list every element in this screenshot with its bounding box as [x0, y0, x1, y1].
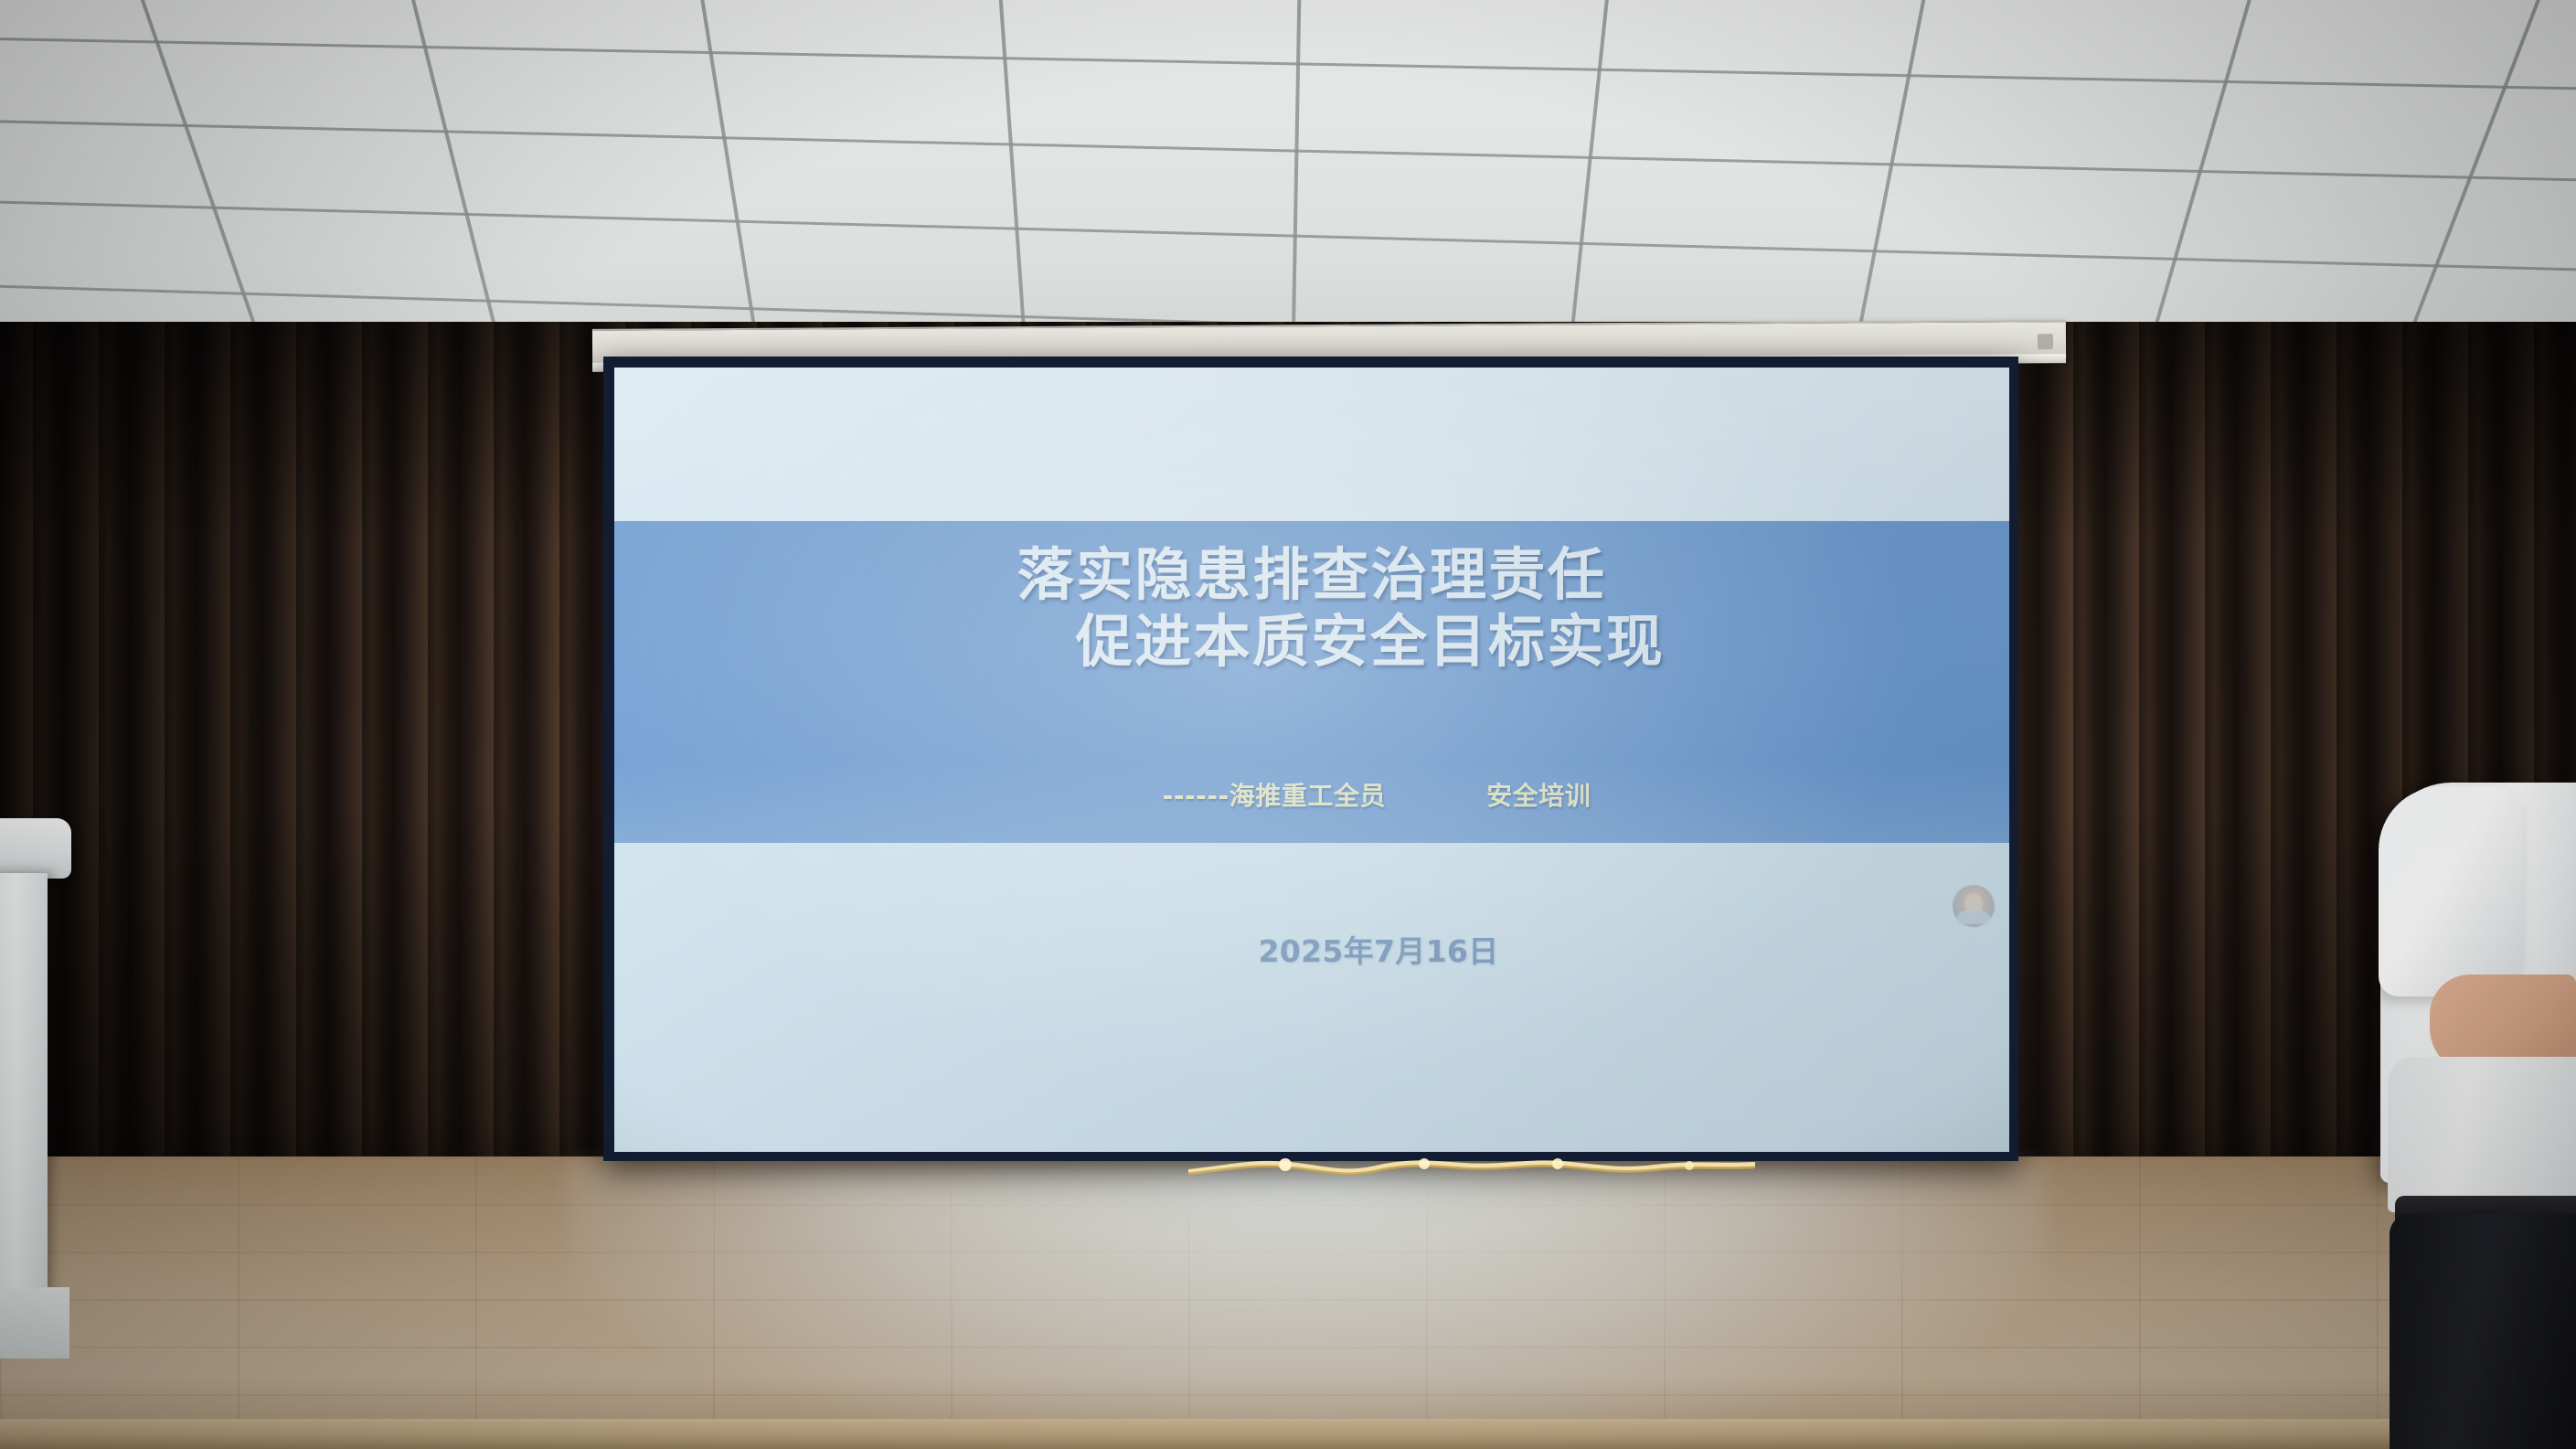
projection-screen-frame: 落实隐患排查治理责任 促进本质安全目标实现 ------海推重工全员 安全培训 …	[603, 357, 2018, 1161]
attendee-sleeve	[2379, 786, 2523, 996]
suspended-tile-ceiling	[0, 0, 2576, 347]
lectern-top	[0, 818, 71, 879]
slide-date: 2025年7月16日	[614, 927, 2009, 971]
person-avatar-icon	[1953, 885, 1995, 927]
slide-subtitle-right: 安全培训	[1486, 776, 1591, 813]
attendee-trousers	[2390, 1214, 2576, 1449]
projector-light-spill	[567, 1161, 2048, 1435]
slide-title-block: 落实隐患排查治理责任 促进本质安全目标实现	[614, 541, 2009, 675]
slide-subtitle-row: ------海推重工全员 安全培训	[614, 776, 2009, 813]
floor-front-edge	[0, 1419, 2576, 1449]
slide-title-line-2: 促进本质安全目标实现	[614, 608, 2009, 675]
scene-root: 落实隐患排查治理责任 促进本质安全目标实现 ------海推重工全员 安全培训 …	[0, 0, 2576, 1449]
lectern-base	[0, 1287, 69, 1358]
lectern-body	[0, 873, 48, 1303]
slide-subtitle-left: ------海推重工全员	[1163, 776, 1386, 813]
attendee-torso	[2388, 1057, 2576, 1212]
roller-endcap-icon	[2038, 334, 2053, 349]
projection-screen-surface: 落实隐患排查治理责任 促进本质安全目标实现 ------海推重工全员 安全培训 …	[614, 368, 2009, 1152]
standing-attendee	[2368, 783, 2576, 1449]
slide-title-line-1: 落实隐患排查治理责任	[614, 541, 2009, 608]
